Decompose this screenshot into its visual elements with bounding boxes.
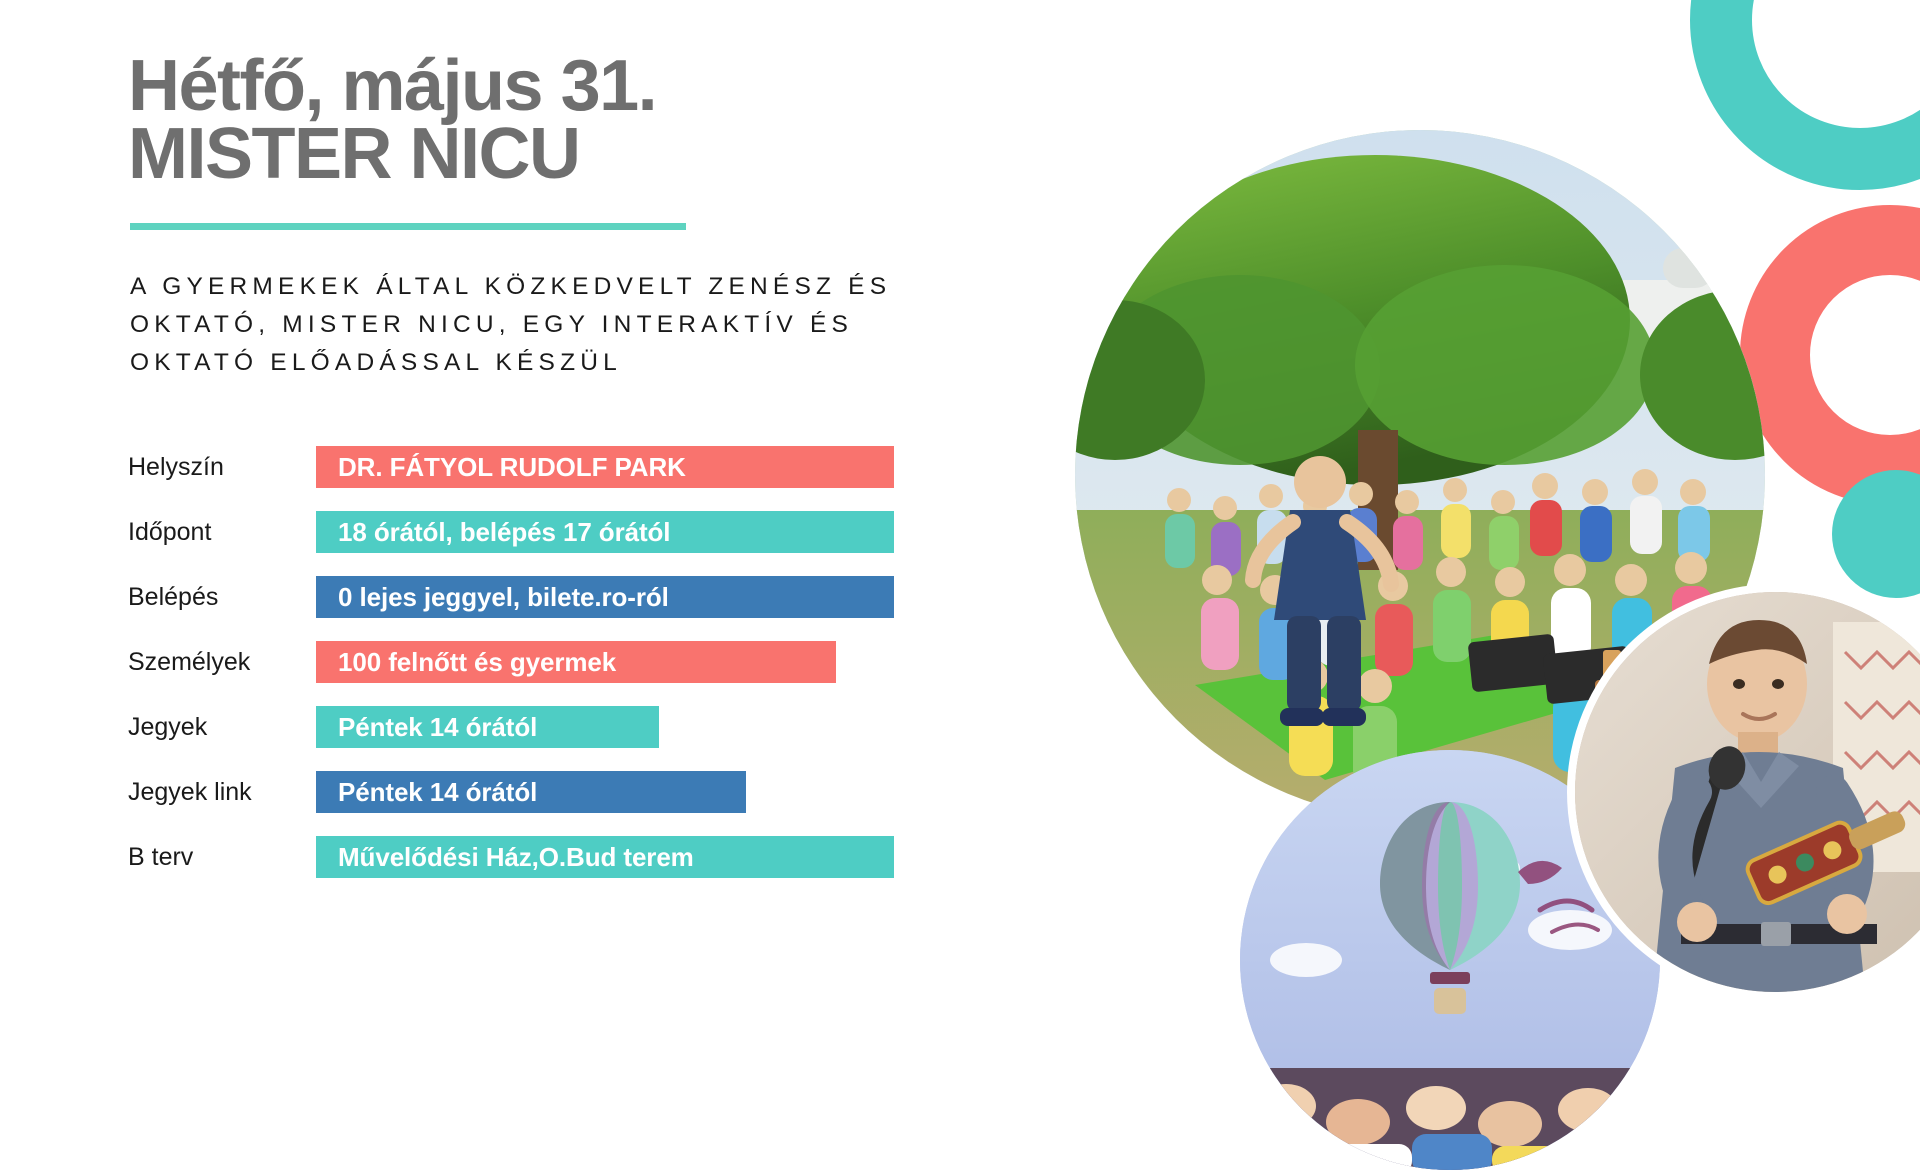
detail-row: Időpont18 órától, belépés 17 órától (128, 505, 948, 560)
event-details-table: HelyszínDR. FÁTYOL RUDOLF PARKIdőpont18 … (128, 440, 948, 885)
detail-value-bar: DR. FÁTYOL RUDOLF PARK (316, 446, 894, 488)
detail-row: Belépés0 lejes jeggyel, bilete.ro-ról (128, 570, 948, 625)
detail-label: Jegyek link (128, 780, 316, 805)
detail-label: Személyek (128, 650, 316, 675)
detail-label: B terv (128, 845, 316, 870)
detail-value-bar: Péntek 14 órától (316, 706, 659, 748)
photo-collage (1075, 130, 1905, 1080)
detail-label: Időpont (128, 520, 316, 545)
detail-row: HelyszínDR. FÁTYOL RUDOLF PARK (128, 440, 948, 495)
subtitle-text: A gyermekek által közkedvelt zenész és o… (130, 268, 920, 382)
detail-row: Személyek100 felnőtt és gyermek (128, 635, 948, 690)
detail-value-bar: 0 lejes jeggyel, bilete.ro-ról (316, 576, 894, 618)
detail-value-bar: 18 órától, belépés 17 órától (316, 511, 894, 553)
page-title: Hétfő, május 31. MISTER NICU (128, 52, 948, 189)
detail-value-bar: Péntek 14 órától (316, 771, 746, 813)
detail-row: B tervMűvelődési Ház,O.Bud terem (128, 830, 948, 885)
detail-row: Jegyek linkPéntek 14 órától (128, 765, 948, 820)
detail-value-bar: 100 felnőtt és gyermek (316, 641, 836, 683)
detail-label: Helyszín (128, 455, 316, 480)
slide-content: Hétfő, május 31. MISTER NICU A gyermekek… (128, 52, 948, 895)
title-underline-rule (130, 223, 686, 230)
detail-row: JegyekPéntek 14 órától (128, 700, 948, 755)
title-line-2: MISTER NICU (128, 120, 948, 188)
detail-label: Belépés (128, 585, 316, 610)
detail-label: Jegyek (128, 715, 316, 740)
detail-value-bar: Művelődési Ház,O.Bud terem (316, 836, 894, 878)
